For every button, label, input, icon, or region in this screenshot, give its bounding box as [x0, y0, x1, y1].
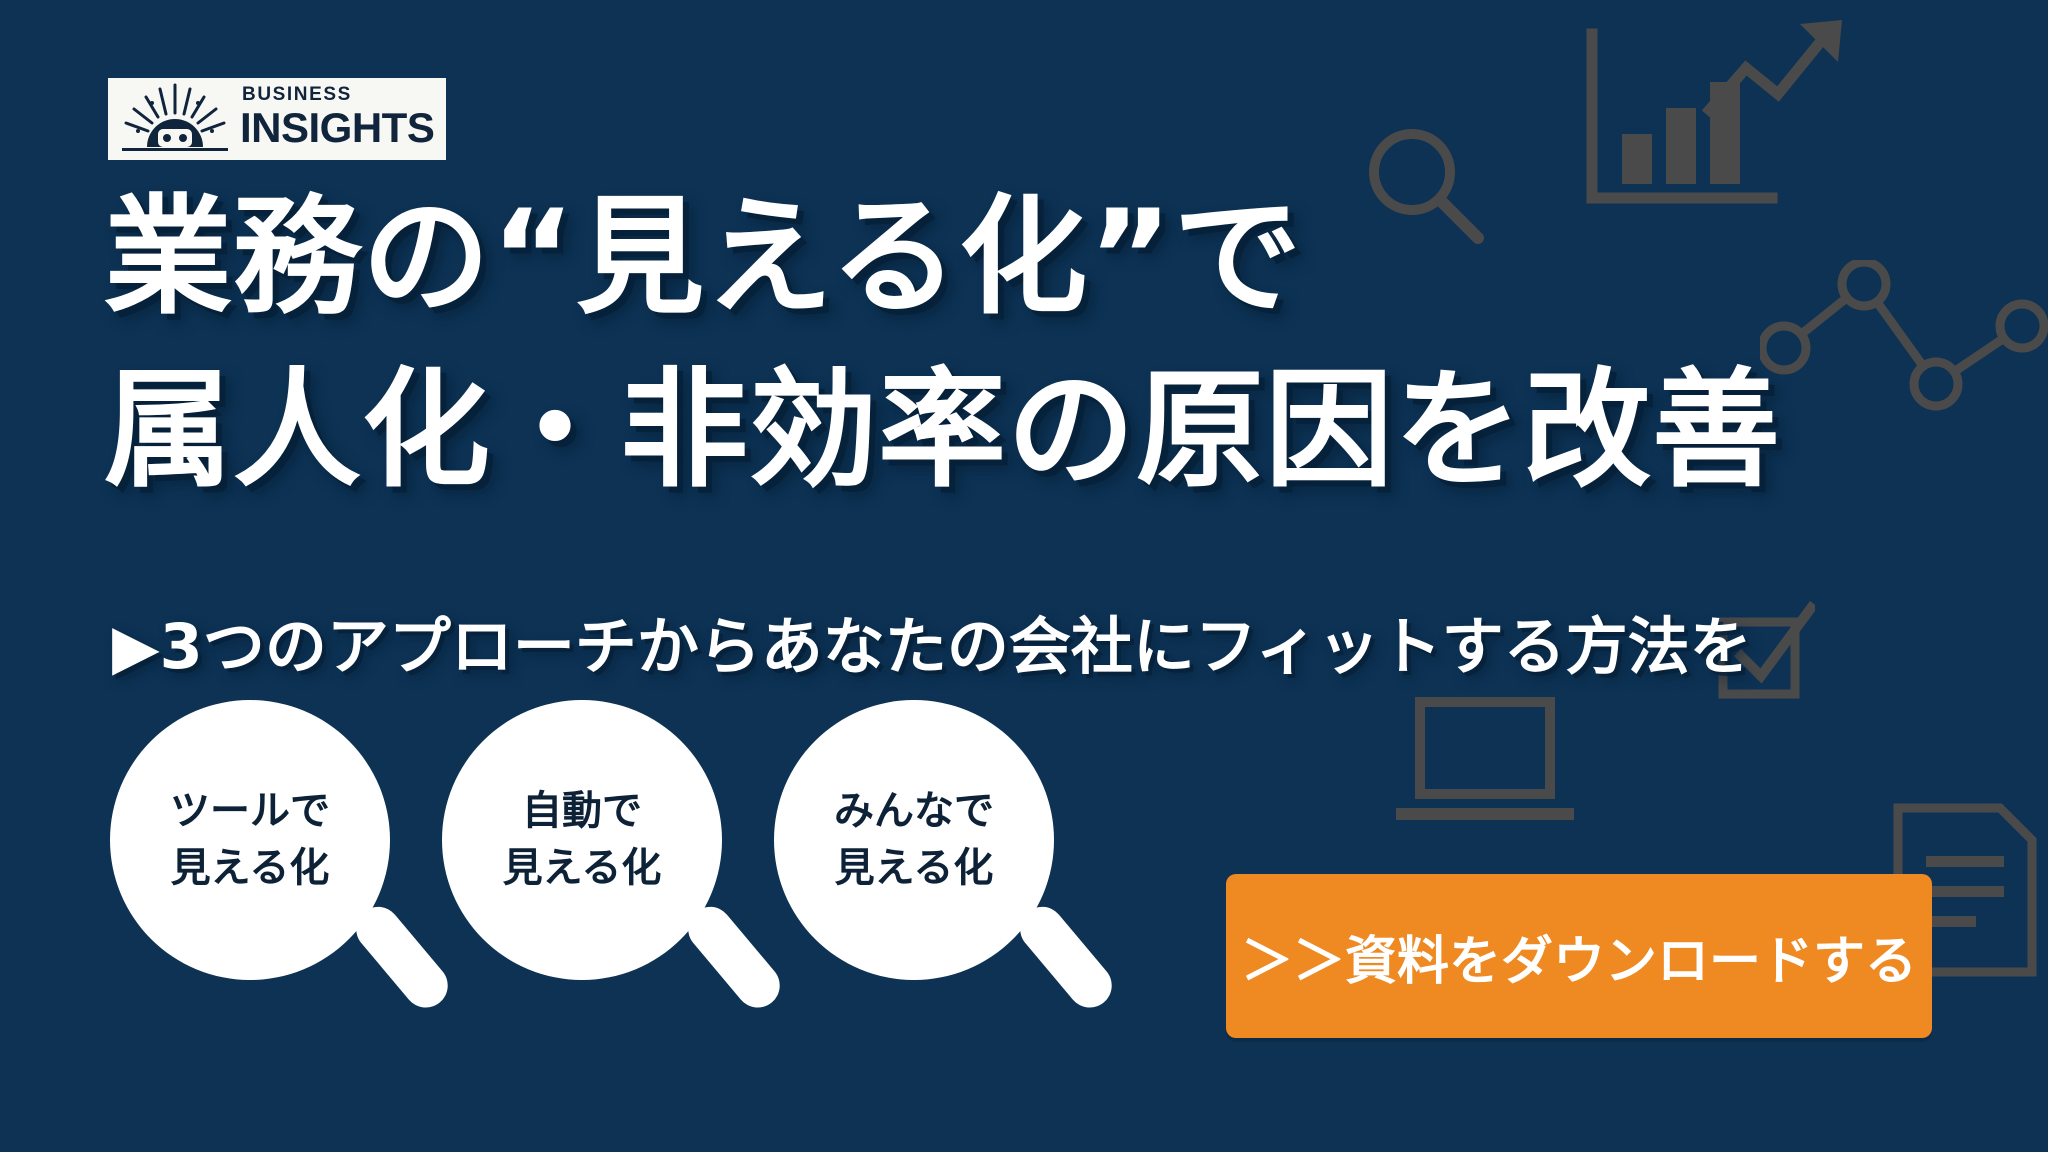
logo-business-text: BUSINESS	[240, 85, 434, 104]
bubble-label-line2: 見える化	[835, 840, 994, 897]
headline-line-1: 業務の“見える化”で	[104, 172, 1864, 345]
bubble-label-line2: 見える化	[503, 840, 662, 897]
magnifier-lens: ツールで 見える化	[110, 700, 390, 980]
bubble-label-line1: 自動で	[522, 783, 642, 840]
magnifier-lens: 自動で 見える化	[442, 700, 722, 980]
headline-line-2: 属人化・非効率の原因を改善	[104, 345, 1864, 518]
subtitle: ▶3つのアプローチからあなたの会社にフィットする方法を	[112, 596, 1752, 686]
download-material-button[interactable]: ＞＞資料をダウンロードする	[1226, 874, 1932, 1038]
bubble-label-line1: みんなで	[834, 783, 994, 840]
business-insights-logo: BUSINESS INSIGHTS	[108, 78, 446, 160]
headline: 業務の“見える化”で 属人化・非効率の原因を改善	[104, 172, 1864, 518]
approach-bubble: ツールで 見える化	[110, 700, 390, 1020]
approach-bubble: みんなで 見える化	[774, 700, 1054, 1020]
magnifier-lens: みんなで 見える化	[774, 700, 1054, 980]
sunrise-robot-icon	[116, 83, 234, 155]
bubble-label-line1: ツールで	[170, 783, 330, 840]
download-material-label: ＞＞資料をダウンロードする	[1241, 919, 1917, 994]
banner-canvas: BUSINESS INSIGHTS 業務の“見える化”で 属人化・非効率の原因を…	[0, 0, 2048, 1152]
laptop-icon	[1390, 690, 1580, 830]
bubble-label-line2: 見える化	[171, 840, 330, 897]
trend-arrow-icon	[1700, 10, 1860, 130]
approach-bubble: 自動で 見える化	[442, 700, 722, 1020]
logo-insights-text: INSIGHTS	[240, 107, 434, 149]
approach-bubble-group: ツールで 見える化 自動で 見える化 みんなで 見える化	[110, 700, 1054, 1020]
